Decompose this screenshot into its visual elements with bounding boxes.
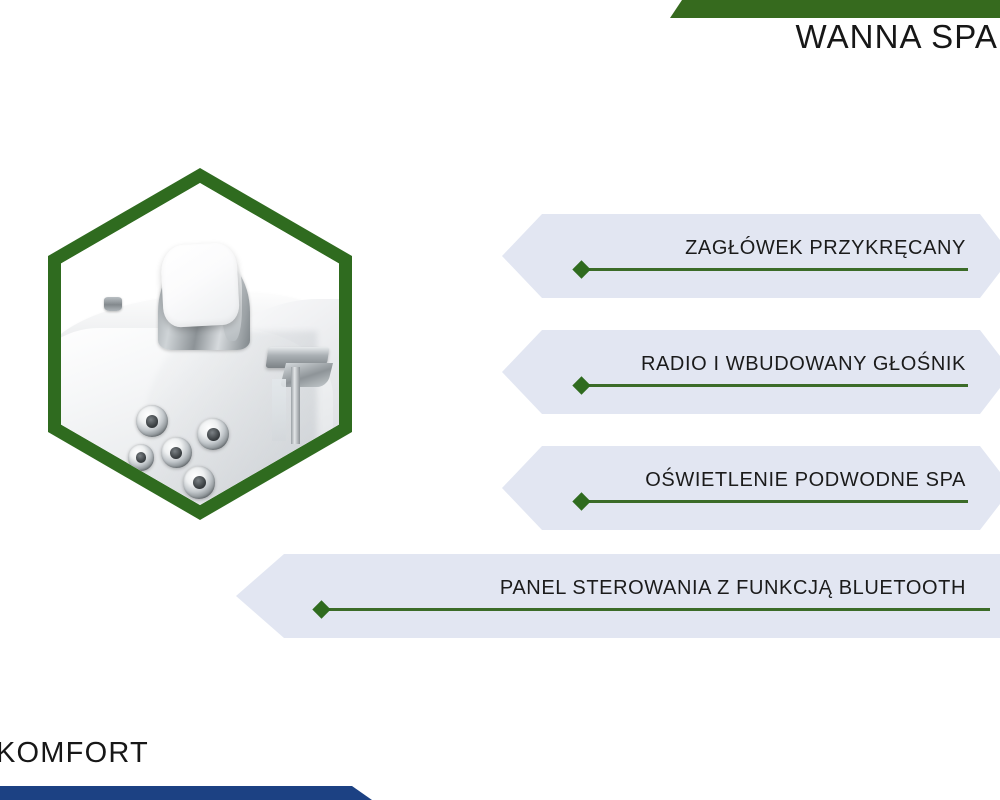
top-green-accent-bar [670, 0, 1000, 18]
feature-rule-4 [322, 608, 990, 611]
feature-banner-2: RADIO I WBUDOWANY GŁOŚNIK [502, 330, 1000, 414]
faucet-water-stream [272, 379, 286, 440]
page-title: WANNA SPA [796, 20, 998, 53]
feature-label-1: ZAGŁÓWEK PRZYKRĘCANY [685, 238, 966, 258]
feature-banner-4: PANEL STEROWANIA Z FUNKCJĄ BLUETOOTH [236, 554, 1000, 638]
feature-label-4: PANEL STEROWANIA Z FUNKCJĄ BLUETOOTH [500, 578, 966, 598]
headrest-cushion [160, 242, 241, 328]
footer-word: KOMFORT [0, 739, 149, 768]
feature-rule-1 [582, 268, 968, 271]
bottom-blue-accent-bar [0, 786, 372, 800]
product-image-hexagon [48, 168, 352, 520]
massage-jet-icon [161, 437, 192, 468]
diamond-bullet-icon [572, 492, 590, 510]
feature-label-3: OŚWIETLENIE PODWODNE SPA [645, 470, 966, 490]
feature-rule-3 [582, 500, 968, 503]
feature-banner-1: ZAGŁÓWEK PRZYKRĘCANY [502, 214, 1000, 298]
massage-jet-icon [183, 466, 215, 498]
diamond-bullet-icon [572, 376, 590, 394]
faucet-stem [291, 367, 300, 444]
feature-label-2: RADIO I WBUDOWANY GŁOŚNIK [641, 354, 966, 374]
diamond-bullet-icon [312, 600, 330, 618]
feature-rule-2 [582, 384, 968, 387]
diamond-bullet-icon [572, 260, 590, 278]
rim-chrome-knob [104, 297, 122, 311]
feature-banner-3: OŚWIETLENIE PODWODNE SPA [502, 446, 1000, 530]
